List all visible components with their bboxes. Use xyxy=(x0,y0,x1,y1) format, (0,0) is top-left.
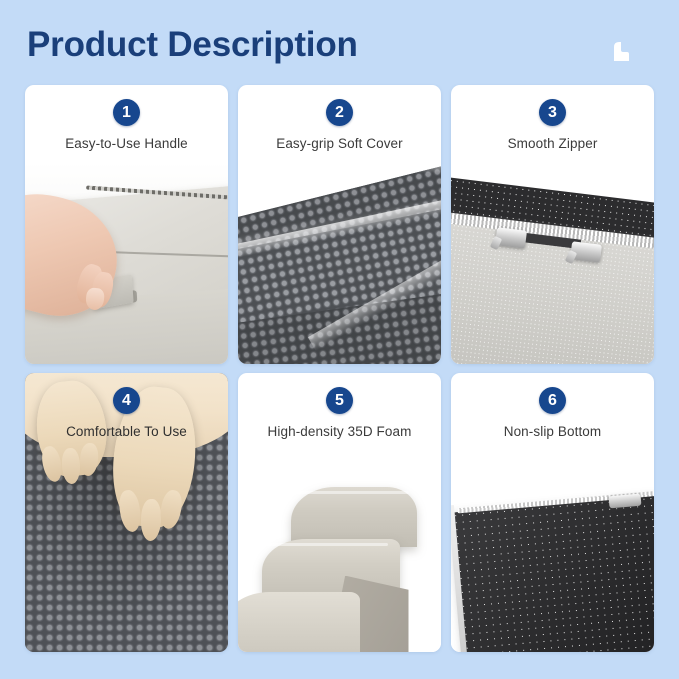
card-3-badge: 3 xyxy=(539,99,566,126)
card-2-label: Easy-grip Soft Cover xyxy=(238,136,441,151)
card-6-badge: 6 xyxy=(539,387,566,414)
card-1-label: Easy-to-Use Handle xyxy=(25,136,228,151)
card-3-image xyxy=(451,163,654,364)
card-3-label: Smooth Zipper xyxy=(451,136,654,151)
card-4-label: Comfortable To Use xyxy=(25,424,228,439)
card-1-header: 1 Easy-to-Use Handle xyxy=(25,85,228,151)
feature-card-6[interactable]: 6 Non-slip Bottom xyxy=(451,373,654,652)
card-1-image xyxy=(25,163,228,364)
header: Product Description xyxy=(0,0,679,84)
card-6-header: 6 Non-slip Bottom xyxy=(451,373,654,439)
card-6-label: Non-slip Bottom xyxy=(451,424,654,439)
card-1-badge: 1 xyxy=(113,99,140,126)
feature-card-2[interactable]: 2 Easy-grip Soft Cover xyxy=(238,85,441,364)
feature-card-5[interactable]: 5 High-density 35D Foam xyxy=(238,373,441,652)
product-description-infographic: Product Description 1 Easy-to-Use H xyxy=(0,0,679,679)
feature-card-3[interactable]: 3 Smooth Zipper xyxy=(451,85,654,364)
feature-card-grid: 1 Easy-to-Use Handle 2 Easy-grip Soft Co… xyxy=(25,85,655,657)
page-title: Product Description xyxy=(27,24,358,66)
feature-card-1[interactable]: 1 Easy-to-Use Handle xyxy=(25,85,228,364)
stairs-step-icon xyxy=(614,42,636,61)
feature-card-4[interactable]: 4 Comfortable To Use xyxy=(25,373,228,652)
card-5-badge: 5 xyxy=(326,387,353,414)
card-4-badge: 4 xyxy=(113,387,140,414)
card-3-header: 3 Smooth Zipper xyxy=(451,85,654,151)
card-2-header: 2 Easy-grip Soft Cover xyxy=(238,85,441,151)
card-5-label: High-density 35D Foam xyxy=(238,424,441,439)
card-2-badge: 2 xyxy=(326,99,353,126)
card-5-header: 5 High-density 35D Foam xyxy=(238,373,441,439)
card-4-header: 4 Comfortable To Use xyxy=(25,373,228,439)
card-6-image xyxy=(451,451,654,652)
card-5-image xyxy=(238,451,441,652)
card-2-image xyxy=(238,163,441,364)
